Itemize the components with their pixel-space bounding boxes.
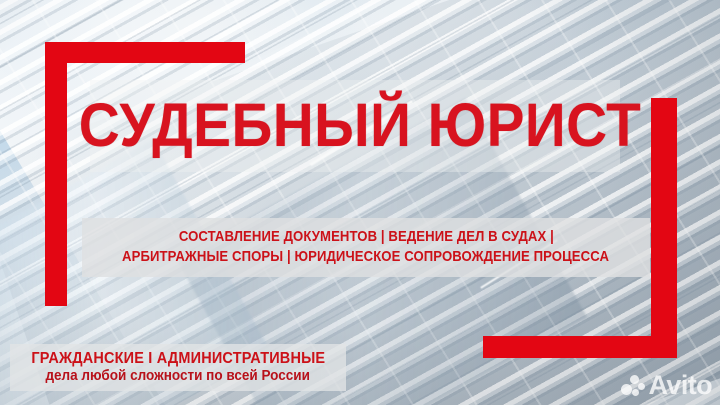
footer-block: ГРАЖДАНСКИЕ I АДМИНИСТРАТИВНЫЕ дела любо… bbox=[10, 344, 346, 391]
corner-bracket-bottom-right-horizontal bbox=[483, 336, 677, 358]
services-line-1: СОСТАВЛЕНИЕ ДОКУМЕНТОВ | ВЕДЕНИЕ ДЕЛ В С… bbox=[178, 230, 553, 245]
corner-bracket-top-left-vertical bbox=[45, 42, 67, 306]
corner-bracket-top-left-horizontal bbox=[45, 42, 245, 63]
services-line-2: АРБИТРАЖНЫЕ СПОРЫ | ЮРИДИЧЕСКОЕ СОПРОВОЖ… bbox=[122, 250, 609, 265]
corner-bracket-bottom-right-vertical bbox=[651, 98, 677, 358]
avito-watermark: Avito bbox=[621, 372, 713, 399]
avito-wordmark: Avito bbox=[649, 372, 713, 399]
footer-line-2: дела любой сложности по всей России bbox=[46, 369, 310, 384]
avito-dots-icon bbox=[621, 375, 645, 397]
headline-text: СУДЕБНЫЙ ЮРИСТ bbox=[81, 84, 639, 166]
advertisement-banner: СУДЕБНЫЙ ЮРИСТ СОСТАВЛЕНИЕ ДОКУМЕНТОВ | … bbox=[0, 0, 720, 405]
footer-line-1: ГРАЖДАНСКИЕ I АДМИНИСТРАТИВНЫЕ bbox=[31, 351, 325, 367]
services-list: СОСТАВЛЕНИЕ ДОКУМЕНТОВ | ВЕДЕНИЕ ДЕЛ В С… bbox=[82, 218, 650, 277]
